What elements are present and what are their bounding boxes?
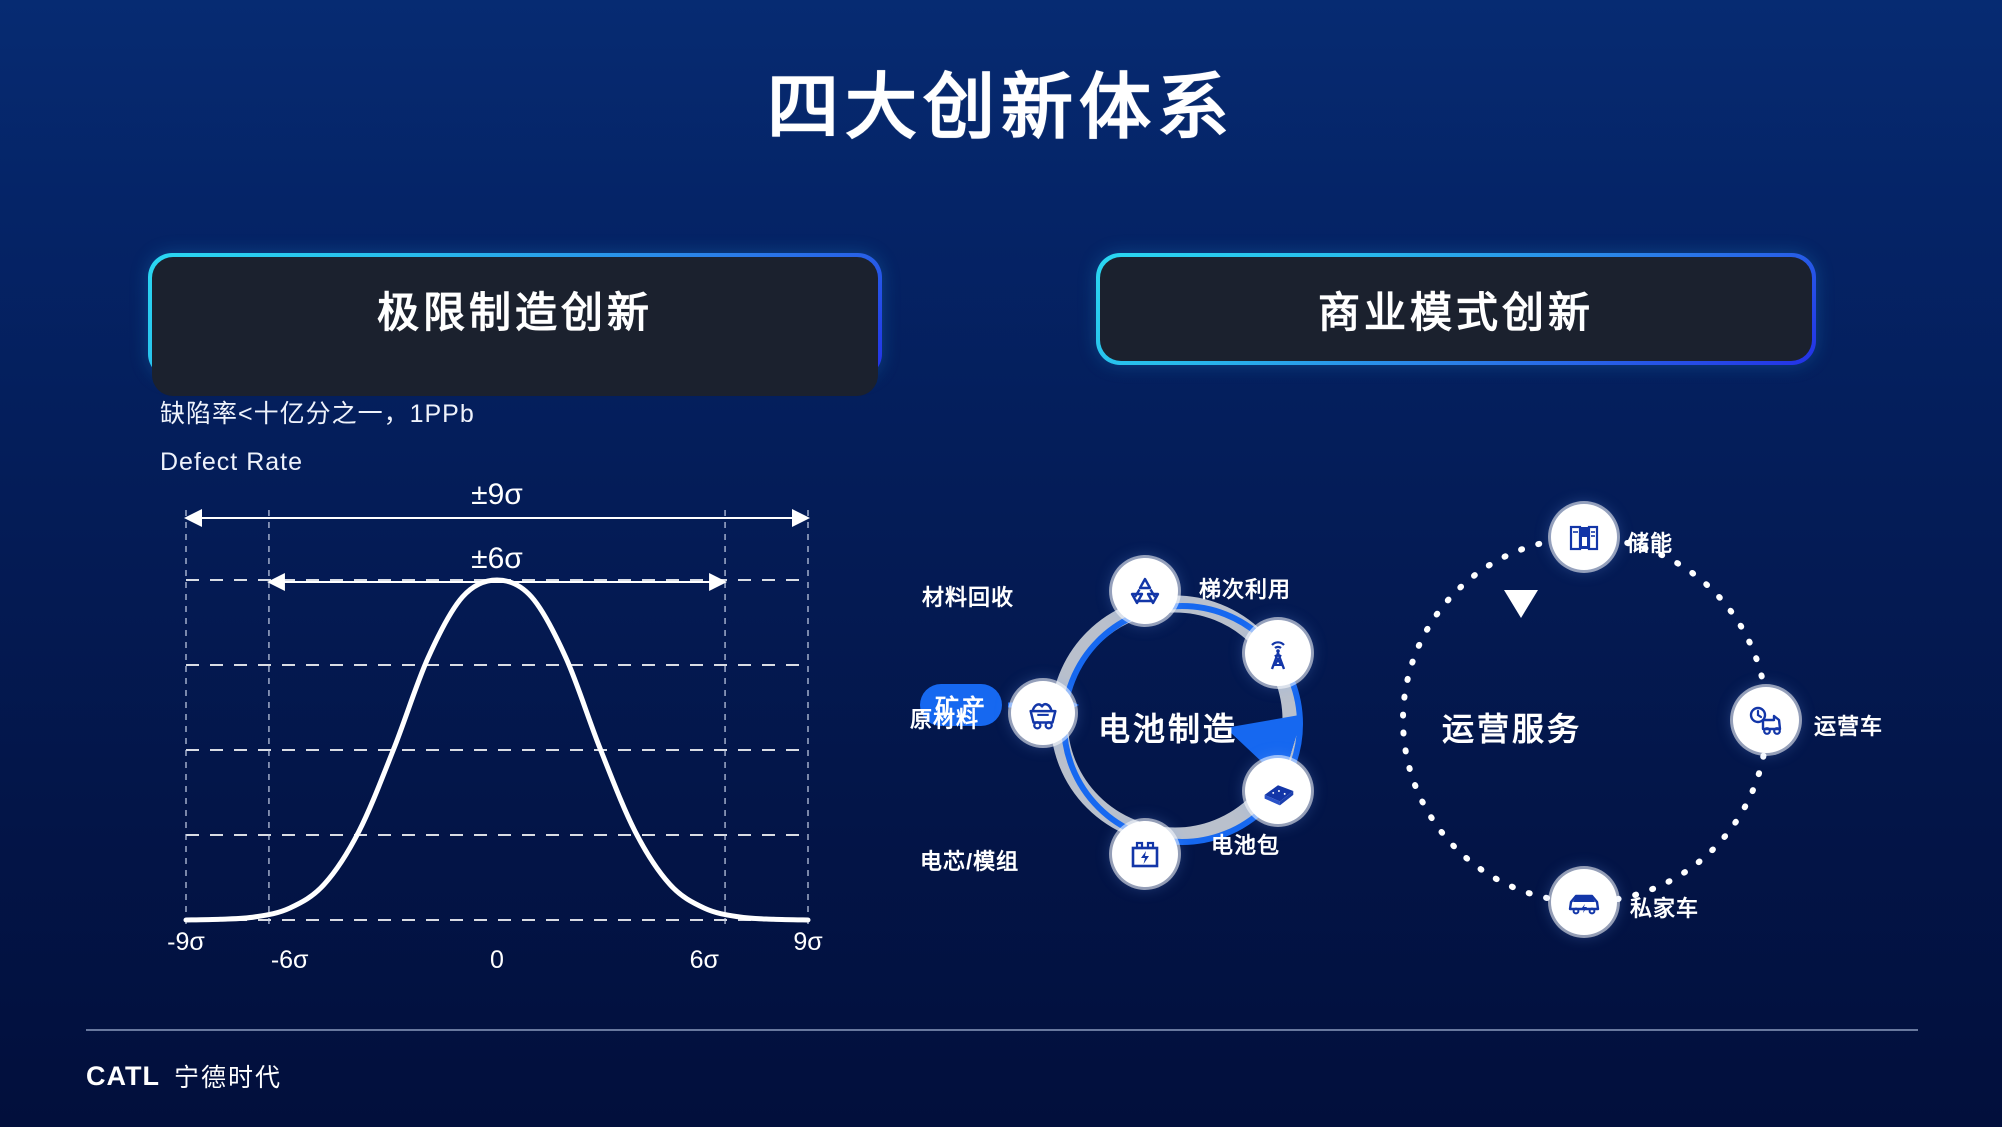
chart-svg: ±9σ±6σ -9σ-6σ06σ9σ — [150, 470, 830, 990]
node-label-energy-storage: 储能 — [1627, 526, 1673, 558]
brand-logo: CATL 宁德时代 — [86, 1058, 282, 1094]
node-battery-pack[interactable] — [1245, 758, 1311, 824]
battery-icon — [1125, 834, 1165, 874]
chart-x-tick-labels: -9σ-6σ06σ9σ — [167, 928, 823, 974]
panel-title-right: 商业模式创新 — [1318, 279, 1594, 340]
node-label-private-car: 私家车 — [1630, 891, 1699, 923]
svg-text:-9σ: -9σ — [167, 928, 205, 956]
business-cycle-diagram: 矿产 电池制造 运营服务 原材料 — [930, 510, 1960, 930]
operations-direction-arrow — [1504, 590, 1538, 618]
svg-text:9σ: 9σ — [793, 928, 823, 956]
center-label-operation-service: 运营服务 — [1442, 704, 1582, 750]
svg-text:0: 0 — [490, 946, 504, 974]
svg-text:-6σ: -6σ — [271, 946, 309, 974]
center-label-battery-manufacturing: 电池制造 — [1098, 704, 1238, 750]
svg-text:±6σ: ±6σ — [471, 542, 523, 575]
footer-divider — [86, 1029, 1918, 1031]
panel-header-inner-right: 商业模式创新 — [1100, 257, 1812, 361]
node-cell-module[interactable] — [1112, 821, 1178, 887]
node-label-material-recycle: 材料回收 — [922, 580, 1014, 612]
node-private-car[interactable] — [1551, 869, 1617, 935]
logo-catl-text: CATL — [86, 1061, 160, 1092]
panel-header-business-model: 商业模式创新 — [1096, 253, 1816, 365]
node-label-battery-pack: 电池包 — [1211, 828, 1280, 860]
logo-cn-text: 宁德时代 — [174, 1058, 282, 1094]
battery-pack-icon — [1257, 770, 1299, 812]
svg-text:±9σ: ±9σ — [471, 478, 523, 511]
node-energy-storage[interactable] — [1551, 504, 1617, 570]
sigma-distribution-chart: ±9σ±6σ -9σ-6σ06σ9σ — [150, 470, 830, 990]
slide-root: 四大创新体系 极限制造创新 商业模式创新 缺陷率<十亿分之一，1PPb Defe… — [0, 0, 2002, 1127]
chart-span-annotations: ±9σ±6σ — [186, 478, 808, 582]
node-label-operating-vehicle: 运营车 — [1814, 709, 1883, 741]
panel-header-extreme-manufacturing: 极限制造创新 — [148, 253, 882, 378]
node-label-cascade-use: 梯次利用 — [1199, 572, 1291, 604]
panel-title-left: 极限制造创新 — [377, 279, 653, 340]
node-material-recycle[interactable] — [1112, 558, 1178, 624]
car-icon — [1564, 882, 1604, 922]
page-title: 四大创新体系 — [0, 48, 2002, 153]
defect-rate-cn: 缺陷率<十亿分之一，1PPb — [160, 390, 475, 438]
node-cascade-use[interactable] — [1245, 620, 1311, 686]
cell-tower-icon — [1258, 633, 1298, 673]
svg-text:6σ: 6σ — [690, 946, 720, 974]
panel-header-inner-left: 极限制造创新 — [152, 257, 878, 396]
node-raw-material[interactable] — [1011, 681, 1075, 745]
storage-cabinet-icon — [1564, 517, 1604, 557]
ore-cart-icon — [1024, 694, 1062, 732]
chart-gridlines — [186, 580, 808, 920]
delivery-truck-icon — [1746, 700, 1786, 740]
node-label-cell-module: 电芯/模组 — [920, 844, 1019, 876]
recycle-icon — [1125, 571, 1165, 611]
node-label-raw-material: 原材料 — [910, 702, 979, 734]
node-operating-vehicle[interactable] — [1733, 687, 1799, 753]
